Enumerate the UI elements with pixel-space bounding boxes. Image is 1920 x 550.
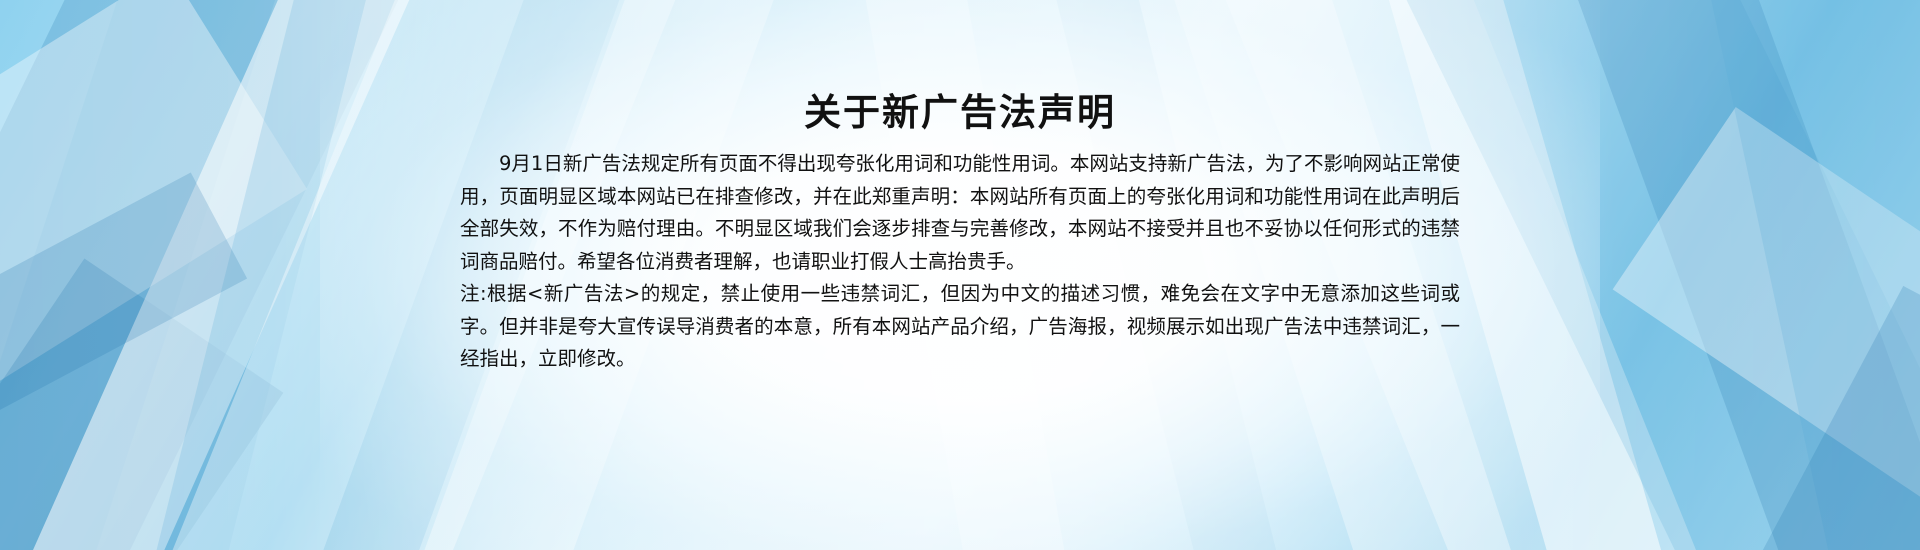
statement-paragraph-main: 9月1日新广告法规定所有页面不得出现夸张化用词和功能性用词。本网站支持新广告法，… (460, 148, 1460, 278)
advertising-law-statement-banner: 关于新广告法声明 9月1日新广告法规定所有页面不得出现夸张化用词和功能性用词。本… (0, 0, 1920, 550)
statement-content: 关于新广告法声明 9月1日新广告法规定所有页面不得出现夸张化用词和功能性用词。本… (460, 0, 1460, 550)
page-title: 关于新广告法声明 (460, 82, 1460, 136)
statement-body: 9月1日新广告法规定所有页面不得出现夸张化用词和功能性用词。本网站支持新广告法，… (460, 148, 1460, 376)
statement-paragraph-note: 注:根据<新广告法>的规定，禁止使用一些违禁词汇，但因为中文的描述习惯，难免会在… (460, 278, 1460, 376)
